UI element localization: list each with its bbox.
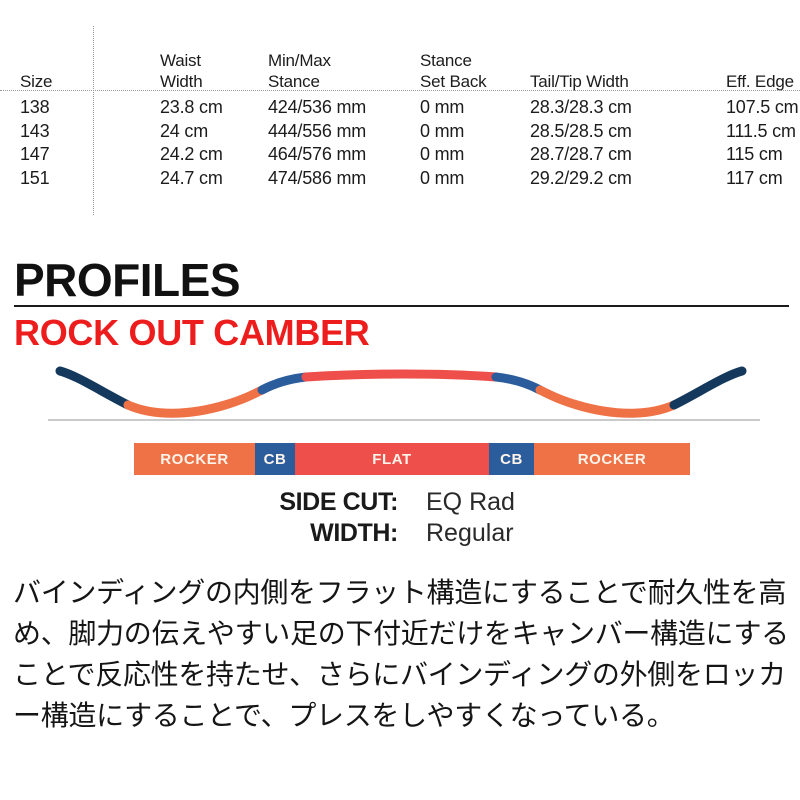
column-header-waist-width-line2: Width [160,71,268,92]
cell-size: 143 [0,120,138,144]
column-header-size: Size [0,26,138,96]
table-row: 143 24 cm 444/556 mm 0 mm 28.5/28.5 cm 1… [0,120,800,144]
column-header-min-max-stance-line1: Min/Max [268,50,420,71]
legend-segment-cb-left: CB [255,443,295,475]
spec-table: Size Waist Width Min/Max Stance Stance S… [0,26,800,190]
cell-eff-edge: 117 cm [726,167,800,191]
board-rocker-right [540,390,674,413]
cell-size: 151 [0,167,138,191]
board-profile-diagram [20,358,780,436]
board-tip-left [60,371,128,405]
cell-min-max-stance: 424/536 mm [268,96,420,120]
cell-waist-width: 24.7 cm [138,167,268,191]
profile-legend-bar: ROCKER CB FLAT CB ROCKER [134,443,690,475]
title-divider [14,305,789,307]
spec-detail-list: SIDE CUT: EQ Rad WIDTH: Regular [0,488,800,550]
legend-segment-rocker-left: ROCKER [134,443,255,475]
cell-waist-width: 23.8 cm [138,96,268,120]
cell-min-max-stance: 464/576 mm [268,143,420,167]
column-header-stance-set-back: Stance Set Back [420,26,530,96]
width-label: WIDTH: [0,519,398,548]
cell-eff-edge: 107.5 cm [726,96,800,120]
cell-stance-set-back: 0 mm [420,120,530,144]
column-header-tail-tip-width-line1: Tail/Tip Width [530,71,726,92]
column-header-waist-width-line1: Waist [160,50,268,71]
table-row: 151 24.7 cm 474/586 mm 0 mm 29.2/29.2 cm… [0,167,800,191]
board-flat-center [306,374,496,377]
cell-stance-set-back: 0 mm [420,143,530,167]
legend-segment-flat: FLAT [295,443,489,475]
cell-min-max-stance: 444/556 mm [268,120,420,144]
column-header-eff-edge: Eff. Edge [726,26,800,96]
cell-stance-set-back: 0 mm [420,167,530,191]
profile-name-heading: ROCK OUT CAMBER [14,312,369,354]
width-value: Regular [426,519,514,548]
cell-size: 138 [0,96,138,120]
cell-stance-set-back: 0 mm [420,96,530,120]
board-rocker-left [128,390,262,413]
table-header-row: Size Waist Width Min/Max Stance Stance S… [0,26,800,96]
side-cut-value: EQ Rad [426,488,515,517]
column-header-eff-edge-line1: Eff. Edge [726,71,800,92]
cell-eff-edge: 115 cm [726,143,800,167]
cell-waist-width: 24.2 cm [138,143,268,167]
cell-eff-edge: 111.5 cm [726,120,800,144]
column-header-stance-set-back-line2: Set Back [420,71,530,92]
spec-detail-row-side-cut: SIDE CUT: EQ Rad [0,488,800,519]
table-column-divider [93,26,94,215]
cell-tail-tip-width: 28.5/28.5 cm [530,120,726,144]
cell-tail-tip-width: 28.7/28.7 cm [530,143,726,167]
description-text: バインディングの内側をフラット構造にすることで耐久性を高め、脚力の伝えやすい足の… [13,572,793,736]
board-camber-left [262,377,306,390]
table-row: 138 23.8 cm 424/536 mm 0 mm 28.3/28.3 cm… [0,96,800,120]
side-cut-label: SIDE CUT: [0,488,398,517]
cell-size: 147 [0,143,138,167]
table-header-divider [0,90,800,91]
spec-table-head: Size Waist Width Min/Max Stance Stance S… [0,26,800,96]
spec-table-container: Size Waist Width Min/Max Stance Stance S… [0,26,800,216]
column-header-stance-set-back-line1: Stance [420,50,530,71]
cell-tail-tip-width: 29.2/29.2 cm [530,167,726,191]
column-header-waist-width: Waist Width [138,26,268,96]
column-header-size-line1: Size [20,71,138,92]
column-header-tail-tip-width: Tail/Tip Width [530,26,726,96]
board-camber-right [496,377,540,390]
legend-segment-cb-right: CB [489,443,534,475]
table-row: 147 24.2 cm 464/576 mm 0 mm 28.7/28.7 cm… [0,143,800,167]
spec-table-body: 138 23.8 cm 424/536 mm 0 mm 28.3/28.3 cm… [0,96,800,190]
cell-waist-width: 24 cm [138,120,268,144]
column-header-min-max-stance: Min/Max Stance [268,26,420,96]
page-title: PROFILES [14,255,240,305]
cell-min-max-stance: 474/586 mm [268,167,420,191]
legend-segment-rocker-right: ROCKER [534,443,690,475]
board-tip-right [674,371,742,405]
spec-detail-row-width: WIDTH: Regular [0,519,800,550]
cell-tail-tip-width: 28.3/28.3 cm [530,96,726,120]
column-header-min-max-stance-line2: Stance [268,71,420,92]
